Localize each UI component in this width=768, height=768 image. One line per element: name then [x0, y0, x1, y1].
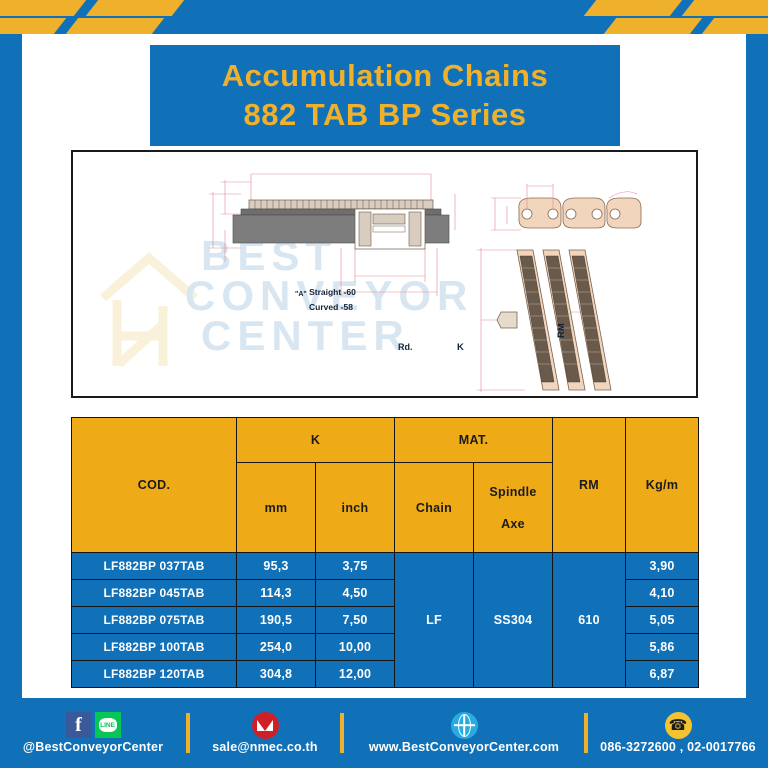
header-mat-spindle: Spindle Axe [474, 463, 553, 553]
mail-icon[interactable] [252, 712, 279, 739]
cell-mm: 254,0 [237, 634, 316, 661]
poster-page: Accumulation Chains 882 TAB BP Series BE… [0, 0, 768, 768]
header-k-group: K [237, 418, 395, 463]
cell-kgm: 4,10 [626, 580, 699, 607]
email-icon-wrap [252, 712, 279, 738]
header-k-mm: mm [237, 463, 316, 553]
footer-phone[interactable]: ☎ 086-3272600 , 02-0017766 [588, 698, 768, 768]
facebook-icon[interactable]: f [66, 712, 92, 738]
cell-inch: 10,00 [316, 634, 395, 661]
header-cod: COD. [72, 418, 237, 553]
cell-mm: 304,8 [237, 661, 316, 688]
decorative-stripe [0, 0, 86, 16]
cell-mm: 114,3 [237, 580, 316, 607]
footer-email[interactable]: sale@nmec.co.th [190, 698, 340, 768]
cell-cod: LF882BP 045TAB [72, 580, 237, 607]
decorative-stripe [66, 18, 165, 34]
decorative-stripe [702, 18, 768, 34]
note-detail-a: "A" Straight -60 Curved -58 [295, 286, 356, 313]
header-spindle-line1: Spindle [474, 485, 552, 499]
header-rm: RM [553, 418, 626, 553]
footer-social[interactable]: f LINE @BestConveyorCenter [0, 698, 186, 768]
cell-inch: 7,50 [316, 607, 395, 634]
decorative-stripe [604, 18, 703, 34]
phone-icon[interactable]: ☎ [665, 712, 692, 739]
cell-kgm: 5,86 [626, 634, 699, 661]
cell-kgm: 3,90 [626, 553, 699, 580]
label-rm: RM [556, 323, 567, 338]
social-handle-text: @BestConveyorCenter [23, 740, 163, 754]
footer-contact-bar: f LINE @BestConveyorCenter sale@nmec.co.… [0, 698, 768, 768]
cell-kgm: 6,87 [626, 661, 699, 688]
specification-table: COD. K MAT. RM Kg/m mm inch Chain Spindl… [71, 417, 699, 688]
social-icons: f LINE [66, 712, 121, 738]
table-row: LF882BP 037TAB 95,3 3,75 LF SS304 610 3,… [72, 553, 699, 580]
cell-mm: 190,5 [237, 607, 316, 634]
cell-cod: LF882BP 120TAB [72, 661, 237, 688]
header-k-inch: inch [316, 463, 395, 553]
technical-drawing-panel: BEST CONVEYOR CENTER [71, 150, 698, 398]
cell-inch: 4,50 [316, 580, 395, 607]
label-k-side: K [457, 342, 464, 353]
cell-rm: 610 [553, 553, 626, 688]
content-card: Accumulation Chains 882 TAB BP Series BE… [22, 34, 746, 698]
cell-spindle-axe: SS304 [474, 553, 553, 688]
decorative-stripe [682, 0, 768, 16]
decorative-stripe [584, 0, 683, 16]
header-mat-group: MAT. [395, 418, 553, 463]
table-header-row-1: COD. K MAT. RM Kg/m [72, 418, 699, 463]
globe-icon[interactable] [451, 712, 478, 739]
footer-website[interactable]: www.BestConveyorCenter.com [344, 698, 584, 768]
note-a-line1: Straight -60 [309, 287, 356, 297]
label-rd: Rd. [398, 342, 413, 352]
phone-text: 086-3272600 , 02-0017766 [600, 740, 756, 754]
line-icon[interactable]: LINE [95, 712, 121, 738]
header-spindle-line2: Axe [474, 517, 552, 531]
cell-cod: LF882BP 100TAB [72, 634, 237, 661]
globe-icon-wrap [451, 712, 478, 738]
engineering-drawing [73, 152, 698, 398]
header-mat-chain: Chain [395, 463, 474, 553]
decorative-stripe [0, 18, 66, 34]
page-title-line1: Accumulation Chains [222, 58, 548, 95]
phone-icon-wrap: ☎ [665, 712, 692, 738]
note-a-line2: Curved -58 [309, 302, 353, 312]
page-title-line2: 882 TAB BP Series [243, 97, 526, 134]
email-text: sale@nmec.co.th [212, 740, 318, 754]
cell-chain: LF [395, 553, 474, 688]
title-banner: Accumulation Chains 882 TAB BP Series [150, 45, 620, 146]
line-icon-label: LINE [99, 718, 117, 732]
cell-inch: 3,75 [316, 553, 395, 580]
website-text: www.BestConveyorCenter.com [369, 740, 559, 754]
header-kgm: Kg/m [626, 418, 699, 553]
cell-cod: LF882BP 075TAB [72, 607, 237, 634]
note-a-marker: "A" [295, 291, 307, 298]
cell-mm: 95,3 [237, 553, 316, 580]
cell-kgm: 5,05 [626, 607, 699, 634]
cell-inch: 12,00 [316, 661, 395, 688]
decorative-stripe [86, 0, 185, 16]
cell-cod: LF882BP 037TAB [72, 553, 237, 580]
